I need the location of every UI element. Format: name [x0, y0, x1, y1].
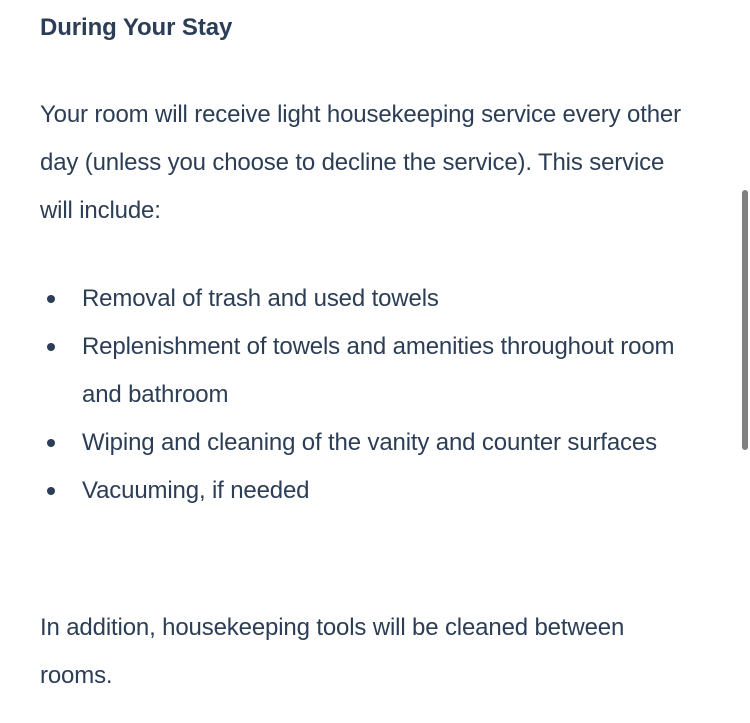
list-item-label: Replenishment of towels and amenities th… — [82, 333, 674, 408]
list-item-label: Removal of trash and used towels — [82, 285, 439, 312]
list-item-label: Wiping and cleaning of the vanity and co… — [82, 429, 657, 456]
page-title: During Your Stay — [40, 4, 232, 52]
bullet-dot-icon — [47, 295, 55, 303]
list-item: Wiping and cleaning of the vanity and co… — [40, 419, 690, 467]
housekeeping-service-list: Removal of trash and used towels Repleni… — [40, 275, 690, 515]
bullet-dot-icon — [47, 487, 55, 495]
list-item: Replenishment of towels and amenities th… — [40, 323, 690, 419]
vertical-scrollbar-track[interactable] — [738, 0, 750, 723]
content-panel: During Your Stay Your room will receive … — [0, 0, 750, 723]
bullet-dot-icon — [47, 343, 55, 351]
list-item: Removal of trash and used towels — [40, 275, 690, 323]
list-item-label: Vacuuming, if needed — [82, 477, 309, 504]
intro-paragraph: Your room will receive light housekeepin… — [40, 91, 700, 235]
vertical-scrollbar-thumb[interactable] — [742, 190, 748, 450]
bullet-dot-icon — [47, 439, 55, 447]
list-item: Vacuuming, if needed — [40, 467, 690, 515]
closing-paragraph: In addition, housekeeping tools will be … — [40, 604, 700, 700]
